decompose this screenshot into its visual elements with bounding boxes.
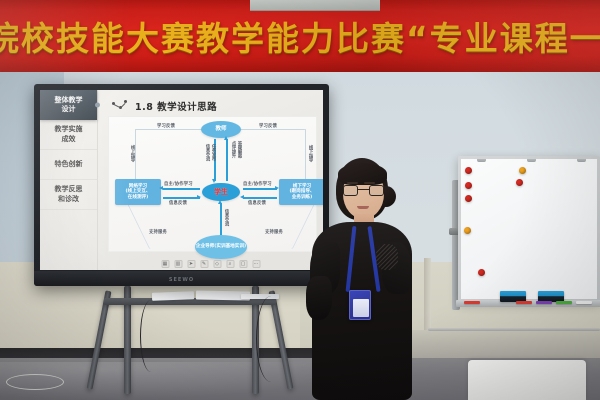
arrowhead-offline-right (275, 186, 279, 190)
magnet[interactable] (465, 167, 472, 174)
arrow-student-to-teacher (226, 139, 228, 181)
node-enterprise-line2: (实训基地 (214, 244, 234, 249)
arrowhead-enterprise-up (218, 200, 222, 204)
classroom-scene: 院校技能大赛教学能力比赛“专业课程一组”现场决 整体教学 设计 教学实施 成效 … (0, 0, 600, 400)
arrowhead-online-left (159, 186, 163, 190)
presenter-mouth (357, 206, 369, 209)
banner-text: 院校技能大赛教学能力比赛“专业课程一组”现场决 (0, 12, 600, 60)
display-brand: SEEWO (169, 277, 194, 283)
sidebar-item-reflection[interactable]: 教学反思 和诊改 (40, 180, 97, 210)
whiteboard-marker[interactable] (464, 301, 480, 304)
label-mid-left-bottom: 信息反馈 (169, 200, 187, 206)
screen-icon[interactable]: ▢ (239, 260, 247, 268)
sidebar-item-2-line1: 特色创新 (55, 160, 83, 169)
slide-title: 1.8 教学设计思路 (135, 99, 217, 113)
label-bottom-vertical: 信息交流 (223, 209, 229, 226)
label-top-left: 学习反馈 (157, 123, 175, 129)
slide-toolbar[interactable]: ▦ ▥ ➤ ✎ ◇ ⌕ ▢ ⋯ (161, 260, 260, 268)
magnet[interactable] (464, 227, 471, 234)
whiteboard-marker[interactable] (576, 301, 592, 304)
glasses-lens-left (343, 185, 358, 196)
node-teacher: 教师 (201, 121, 241, 138)
node-online-line3: 在线测评) (128, 195, 148, 200)
slide-title-row: 1.8 教学设计思路 (112, 99, 217, 113)
presenter-hair-front (338, 163, 387, 185)
sidebar-item-0-line1: 整体教学 (55, 96, 83, 105)
whiteboard-surface[interactable] (461, 159, 597, 299)
sidebar-item-overall-design[interactable]: 整体教学 设计 (40, 90, 97, 120)
label-up-left-2: 任务发布 (210, 144, 216, 161)
side-table (468, 360, 586, 400)
presenter-brow-left (347, 182, 358, 184)
magnet[interactable] (516, 179, 523, 186)
arrow-student-to-offline (243, 188, 277, 190)
stand-cable-right (256, 296, 286, 382)
id-badge-card (353, 299, 369, 317)
node-enterprise-mentor: 企业导师 (实训基地 实训) (195, 235, 247, 259)
whiteboard-marker[interactable] (516, 301, 532, 304)
node-enterprise-line1: 企业导师 (196, 244, 214, 249)
sidebar-item-implementation[interactable]: 教学实施 成效 (40, 120, 97, 150)
whiteboard-marker[interactable] (536, 301, 552, 304)
slide-sidebar: 整体教学 设计 教学实施 成效 特色创新 教学反思 和诊改 (40, 90, 98, 270)
zoom-icon[interactable]: ⌕ (226, 260, 234, 268)
glasses-icon (343, 185, 384, 196)
slide-body: 1.8 教学设计思路 教师 学生 企业导师 (实训基地 实训) (98, 90, 323, 270)
interactive-display[interactable]: 整体教学 设计 教学实施 成效 特色创新 教学反思 和诊改 (34, 84, 329, 286)
teaching-design-diagram: 教师 学生 企业导师 (实训基地 实训) 网络学习 (线上交互、 在线测评) 线… (108, 116, 317, 252)
columns-icon[interactable]: ▥ (174, 260, 182, 268)
arrowhead-student-right-a (197, 195, 201, 199)
label-mid-left-top: 自主/协作学习 (164, 181, 193, 187)
floor-cable (6, 374, 64, 390)
sidebar-item-innovation[interactable]: 特色创新 (40, 150, 97, 180)
whiteboard-clip-3 (577, 159, 586, 162)
whiteboard (458, 156, 600, 302)
presenter-sleeve-left (306, 276, 332, 320)
whiteboard-marker[interactable] (556, 301, 572, 304)
more-icon[interactable]: ⋯ (252, 260, 260, 268)
label-up-right-2: 答疑解惑 (236, 141, 242, 158)
arrowhead-teacher-down (212, 179, 216, 183)
presenter (302, 158, 420, 400)
whiteboard-clip-2 (527, 159, 536, 162)
cursor-icon[interactable]: ➤ (187, 260, 195, 268)
magnet[interactable] (465, 195, 472, 202)
label-mid-right-bottom: 信息反馈 (248, 200, 266, 206)
node-online-learning: 网络学习 (线上交互、 在线测评) (115, 179, 161, 205)
shelf-paper-1 (152, 291, 194, 300)
id-badge (349, 290, 371, 320)
label-bottom-right: 支持服务 (265, 229, 283, 235)
label-left-vertical: 线上指导 (129, 145, 135, 162)
sidebar-item-0-line2: 设计 (62, 105, 76, 114)
arrowhead-student-left-a (240, 195, 244, 199)
arrowhead-student-up (224, 136, 228, 140)
magnet[interactable] (519, 167, 526, 174)
sidebar-item-1-line2: 成效 (62, 135, 76, 144)
label-mid-right-top: 自主/协作学习 (243, 181, 272, 187)
arrow-online-to-student (163, 197, 200, 199)
eraser-icon[interactable]: ◇ (213, 260, 221, 268)
sidebar-item-1-line1: 教学实施 (55, 125, 83, 134)
arrow-enterprise-student (220, 203, 222, 235)
label-top-right: 学习反馈 (259, 123, 277, 129)
label-bottom-left: 支持服务 (149, 229, 167, 235)
node-student: 学生 (202, 183, 240, 201)
sidebar-item-3-line2: 和诊改 (58, 195, 79, 204)
node-enterprise-line3: 实训) (235, 244, 246, 249)
event-banner: 院校技能大赛教学能力比赛“专业课程一组”现场决 (0, 0, 600, 72)
display-bezel: SEEWO (34, 271, 329, 286)
presenter-sleeve-mesh (376, 244, 398, 270)
arrow-student-to-online (163, 188, 200, 190)
display-screen[interactable]: 整体教学 设计 教学实施 成效 特色创新 教学反思 和诊改 (40, 90, 323, 270)
presenter-brow-right (364, 182, 375, 184)
network-node-icon (112, 100, 127, 113)
wall-rail (428, 328, 600, 331)
ceiling-strip (250, 0, 380, 11)
magnet[interactable] (478, 269, 485, 276)
magnet[interactable] (465, 182, 472, 189)
arrow-offline-to-student (243, 197, 277, 199)
glasses-lens-right (369, 185, 384, 196)
glasses-bridge (358, 189, 369, 190)
whiteboard-clip-1 (477, 159, 486, 162)
sidebar-item-3-line1: 教学反思 (55, 185, 83, 194)
stand-cable-left (140, 300, 162, 372)
pen-icon[interactable]: ✎ (200, 260, 208, 268)
grid-icon[interactable]: ▦ (161, 260, 169, 268)
